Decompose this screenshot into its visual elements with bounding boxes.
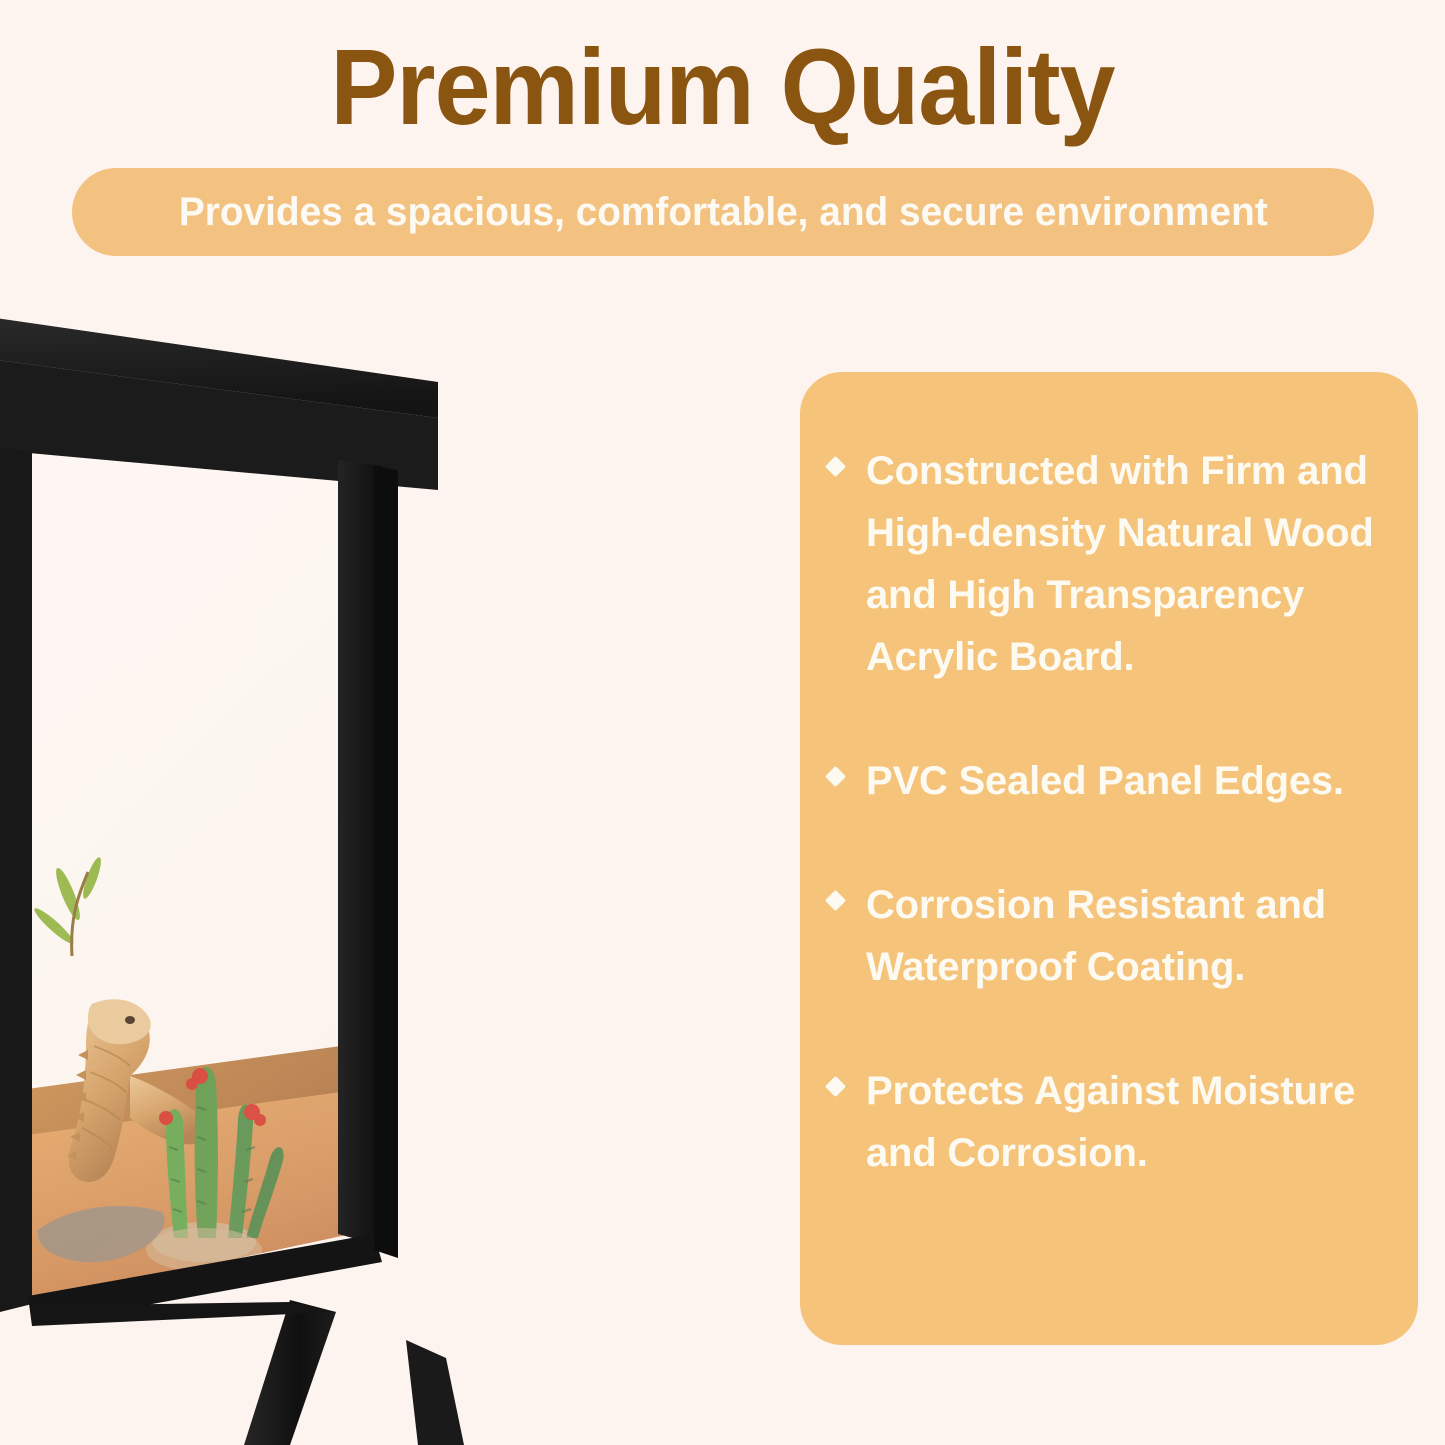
diamond-bullet-icon (825, 766, 846, 787)
page-title: Premium Quality (51, 28, 1395, 146)
diamond-bullet-icon (825, 890, 846, 911)
terrarium-front-face (20, 450, 380, 1320)
subtitle-banner: Provides a spacious, comfortable, and se… (72, 168, 1374, 256)
feature-item: Protects Against Moisture and Corrosion. (828, 1060, 1396, 1184)
feature-item-label: Corrosion Resistant and Waterproof Coati… (866, 874, 1396, 998)
infographic-canvas: Premium Quality Provides a spacious, com… (0, 0, 1445, 1445)
leg-back-right (406, 1340, 464, 1445)
leg-front-right (244, 1300, 336, 1445)
feature-item-label: Constructed with Firm and High-density N… (866, 440, 1396, 688)
product-photo (0, 300, 650, 1445)
feature-item: PVC Sealed Panel Edges. (828, 750, 1396, 812)
terrarium-legs (0, 1300, 464, 1445)
feature-item: Corrosion Resistant and Waterproof Coati… (828, 874, 1396, 998)
feature-item: Constructed with Firm and High-density N… (828, 440, 1396, 688)
subtitle-text: Provides a spacious, comfortable, and se… (179, 189, 1268, 235)
feature-item-label: Protects Against Moisture and Corrosion. (866, 1060, 1396, 1184)
diamond-bullet-icon (825, 456, 846, 477)
feature-list-panel: Constructed with Firm and High-density N… (800, 372, 1418, 1345)
feature-item-label: PVC Sealed Panel Edges. (866, 750, 1344, 812)
diamond-bullet-icon (825, 1076, 846, 1097)
